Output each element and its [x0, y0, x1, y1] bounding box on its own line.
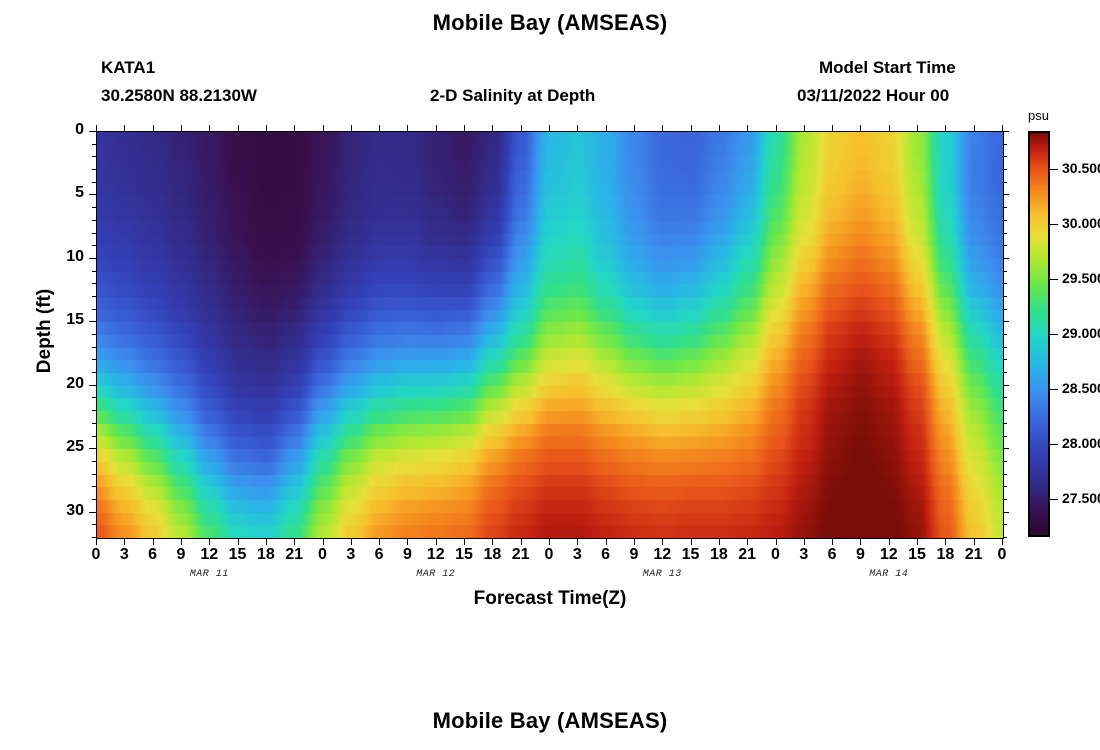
x-axis-tick-top [153, 125, 154, 131]
x-axis-tick [889, 538, 890, 545]
x-axis-tick [379, 538, 380, 545]
y-axis-tick [92, 169, 96, 170]
y-axis-tick-label: 25 [39, 438, 84, 456]
colorbar-tick [1050, 224, 1058, 225]
figure-root: Mobile Bay (AMSEAS) KATA1 30.2580N 88.21… [0, 0, 1100, 750]
x-axis-tick-label: 12 [421, 546, 451, 564]
x-axis-tick [209, 538, 210, 545]
x-axis-tick-top [634, 125, 635, 131]
y-axis-tick-label: 30 [39, 502, 84, 520]
y-axis-tick-right [1003, 347, 1007, 348]
x-axis-tick-top [407, 125, 408, 131]
y-axis-tick [89, 131, 96, 132]
y-axis-title: Depth (ft) [34, 261, 56, 401]
x-axis-tick-top [776, 125, 777, 131]
y-axis-tick [92, 220, 96, 221]
y-axis-tick-right [1003, 448, 1009, 449]
x-axis-tick [832, 538, 833, 545]
y-axis-tick [92, 233, 96, 234]
x-axis-tick-label: 6 [138, 546, 168, 564]
y-axis-tick-right [1003, 385, 1009, 386]
y-axis-tick-right [1003, 397, 1007, 398]
y-axis-tick [92, 271, 96, 272]
x-axis-day-label: MAR 13 [622, 569, 702, 580]
x-axis-day-label: MAR 14 [849, 569, 929, 580]
x-axis-tick-label: 0 [987, 546, 1017, 564]
colorbar-unit-label: psu [1028, 108, 1049, 123]
y-axis-tick [92, 309, 96, 310]
y-axis-tick [92, 156, 96, 157]
x-axis-tick [776, 538, 777, 545]
y-axis-tick [92, 144, 96, 145]
x-axis-tick-top [804, 125, 805, 131]
y-axis-tick [89, 258, 96, 259]
x-axis-tick [464, 538, 465, 545]
colorbar-tick [1050, 444, 1058, 445]
x-axis-tick-top [662, 125, 663, 131]
x-axis-tick [945, 538, 946, 545]
y-axis-tick-right [1003, 271, 1007, 272]
x-axis-tick-label: 3 [789, 546, 819, 564]
y-axis-tick [92, 359, 96, 360]
x-axis-tick [521, 538, 522, 545]
y-axis-tick [92, 372, 96, 373]
colorbar [1028, 131, 1050, 537]
y-axis-tick [92, 537, 96, 538]
station-coordinates-label: 30.2580N 88.2130W [101, 86, 257, 106]
page-title: Mobile Bay (AMSEAS) [0, 10, 1100, 36]
y-axis-tick [92, 423, 96, 424]
footer-title: Mobile Bay (AMSEAS) [0, 708, 1100, 734]
y-axis-tick [92, 182, 96, 183]
y-axis-tick-right [1003, 233, 1007, 234]
x-axis-tick-top [889, 125, 890, 131]
x-axis-tick-label: 12 [194, 546, 224, 564]
x-axis-tick-label: 9 [166, 546, 196, 564]
y-axis-tick-right [1003, 182, 1007, 183]
x-axis-tick-label: 15 [676, 546, 706, 564]
x-axis-tick [407, 538, 408, 545]
x-axis-tick-label: 18 [251, 546, 281, 564]
y-axis-tick [92, 397, 96, 398]
x-axis-tick-top [96, 125, 97, 131]
y-axis-tick [92, 436, 96, 437]
x-axis-tick [124, 538, 125, 545]
y-axis-tick [92, 245, 96, 246]
x-axis-tick-top [860, 125, 861, 131]
x-axis-tick [351, 538, 352, 545]
y-axis-tick-right [1003, 258, 1009, 259]
x-axis-tick-label: 6 [591, 546, 621, 564]
x-axis-tick-top [464, 125, 465, 131]
x-axis-tick [294, 538, 295, 545]
y-axis-tick [89, 385, 96, 386]
x-axis-tick-top [719, 125, 720, 131]
y-axis-tick [89, 194, 96, 195]
x-axis-tick [634, 538, 635, 545]
y-axis-tick-right [1003, 309, 1007, 310]
y-axis-tick [89, 512, 96, 513]
y-axis-tick-right [1003, 372, 1007, 373]
colorbar-tick [1050, 169, 1058, 170]
x-axis-tick [181, 538, 182, 545]
x-axis-tick [719, 538, 720, 545]
x-axis-tick-label: 21 [506, 546, 536, 564]
x-axis-tick [974, 538, 975, 545]
x-axis-tick-label: 0 [534, 546, 564, 564]
x-axis-tick-top [832, 125, 833, 131]
x-axis-tick-top [691, 125, 692, 131]
colorbar-tick [1050, 499, 1058, 500]
x-axis-tick-top [747, 125, 748, 131]
x-axis-tick [662, 538, 663, 545]
x-axis-tick [266, 538, 267, 545]
x-axis-tick-label: 0 [81, 546, 111, 564]
x-axis-tick [804, 538, 805, 545]
x-axis-tick-top [521, 125, 522, 131]
y-axis-tick [92, 524, 96, 525]
y-axis-tick-right [1003, 436, 1007, 437]
colorbar-gradient-canvas [1030, 133, 1048, 535]
x-axis-tick-top [181, 125, 182, 131]
x-axis-tick-label: 3 [562, 546, 592, 564]
y-axis-tick-label: 5 [39, 184, 84, 202]
y-axis-tick [92, 499, 96, 500]
x-axis-tick-top [266, 125, 267, 131]
x-axis-tick [747, 538, 748, 545]
y-axis-tick-right [1003, 207, 1007, 208]
y-axis-tick-right [1003, 512, 1009, 513]
x-axis-tick-label: 21 [959, 546, 989, 564]
y-axis-tick-right [1003, 144, 1007, 145]
y-axis-tick-right [1003, 461, 1007, 462]
colorbar-tick [1050, 389, 1058, 390]
y-axis-tick-right [1003, 194, 1009, 195]
x-axis-day-label: MAR 12 [396, 569, 476, 580]
x-axis-tick-top [323, 125, 324, 131]
colorbar-tick-label: 30.500 [1062, 160, 1100, 176]
y-axis-tick-right [1003, 283, 1007, 284]
x-axis-tick-label: 15 [223, 546, 253, 564]
x-axis-tick-top [577, 125, 578, 131]
x-axis-tick [549, 538, 550, 545]
x-axis-tick-label: 9 [392, 546, 422, 564]
model-start-time-label: Model Start Time [819, 58, 956, 78]
y-axis-tick-right [1003, 169, 1007, 170]
y-axis-tick-right [1003, 486, 1007, 487]
y-axis-tick-right [1003, 359, 1007, 360]
y-axis-tick-right [1003, 131, 1009, 132]
x-axis-tick-top [294, 125, 295, 131]
station-id-label: KATA1 [101, 58, 155, 78]
x-axis-tick [860, 538, 861, 545]
x-axis-tick-top [351, 125, 352, 131]
x-axis-tick-top [209, 125, 210, 131]
heatmap-plot-area [96, 131, 1004, 539]
y-axis-tick-right [1003, 423, 1007, 424]
x-axis-tick-label: 21 [732, 546, 762, 564]
x-axis-title: Forecast Time(Z) [0, 588, 1100, 610]
x-axis-tick [492, 538, 493, 545]
y-axis-tick [89, 448, 96, 449]
x-axis-tick [238, 538, 239, 545]
colorbar-tick-label: 28.000 [1062, 435, 1100, 451]
x-axis-tick [1002, 538, 1003, 545]
x-axis-tick-label: 12 [874, 546, 904, 564]
y-axis-tick [92, 474, 96, 475]
colorbar-tick [1050, 279, 1058, 280]
x-axis-tick-top [917, 125, 918, 131]
x-axis-tick-top [974, 125, 975, 131]
x-axis-tick-label: 9 [619, 546, 649, 564]
x-axis-tick [96, 538, 97, 545]
x-axis-tick [323, 538, 324, 545]
y-axis-tick [92, 283, 96, 284]
x-axis-tick-label: 12 [647, 546, 677, 564]
x-axis-tick [691, 538, 692, 545]
x-axis-tick [153, 538, 154, 545]
x-axis-tick-top [124, 125, 125, 131]
y-axis-tick-right [1003, 245, 1007, 246]
x-axis-tick-label: 0 [308, 546, 338, 564]
y-axis-tick [92, 334, 96, 335]
x-axis-tick-label: 3 [109, 546, 139, 564]
salinity-heatmap-canvas [97, 132, 1003, 538]
x-axis-tick-label: 18 [477, 546, 507, 564]
x-axis-tick-label: 9 [845, 546, 875, 564]
colorbar-tick-label: 27.500 [1062, 490, 1100, 506]
x-axis-tick-label: 0 [761, 546, 791, 564]
y-axis-tick [92, 207, 96, 208]
y-axis-tick-right [1003, 524, 1007, 525]
y-axis-tick [92, 486, 96, 487]
y-axis-tick [92, 296, 96, 297]
x-axis-tick [577, 538, 578, 545]
x-axis-tick-label: 6 [817, 546, 847, 564]
x-axis-tick-top [945, 125, 946, 131]
x-axis-tick-top [238, 125, 239, 131]
y-axis-tick-right [1003, 499, 1007, 500]
x-axis-tick-top [379, 125, 380, 131]
y-axis-tick-right [1003, 220, 1007, 221]
x-axis-tick-label: 18 [930, 546, 960, 564]
x-axis-tick-top [436, 125, 437, 131]
y-axis-tick-right [1003, 156, 1007, 157]
x-axis-tick [436, 538, 437, 545]
x-axis-tick-label: 18 [704, 546, 734, 564]
y-axis-tick [92, 410, 96, 411]
x-axis-tick-label: 15 [902, 546, 932, 564]
model-start-time-value: 03/11/2022 Hour 00 [797, 86, 949, 106]
colorbar-tick-label: 29.500 [1062, 270, 1100, 286]
x-axis-tick-top [606, 125, 607, 131]
x-axis-tick-label: 21 [279, 546, 309, 564]
y-axis-tick-right [1003, 334, 1007, 335]
y-axis-tick-right [1003, 537, 1007, 538]
x-axis-tick [606, 538, 607, 545]
x-axis-tick-top [549, 125, 550, 131]
x-axis-tick [917, 538, 918, 545]
x-axis-day-label: MAR 11 [169, 569, 249, 580]
y-axis-tick [89, 321, 96, 322]
y-axis-tick [92, 461, 96, 462]
y-axis-tick [92, 347, 96, 348]
colorbar-tick-label: 29.000 [1062, 325, 1100, 341]
colorbar-tick-label: 28.500 [1062, 380, 1100, 396]
y-axis-tick-right [1003, 296, 1007, 297]
x-axis-tick-label: 6 [364, 546, 394, 564]
y-axis-tick-label: 0 [39, 121, 84, 139]
colorbar-tick-label: 30.000 [1062, 215, 1100, 231]
y-axis-tick-right [1003, 474, 1007, 475]
y-axis-tick-right [1003, 410, 1007, 411]
x-axis-tick-label: 3 [336, 546, 366, 564]
colorbar-tick [1050, 334, 1058, 335]
x-axis-tick-label: 15 [449, 546, 479, 564]
x-axis-tick-top [492, 125, 493, 131]
chart-subtitle: 2-D Salinity at Depth [430, 86, 595, 106]
y-axis-tick-right [1003, 321, 1009, 322]
